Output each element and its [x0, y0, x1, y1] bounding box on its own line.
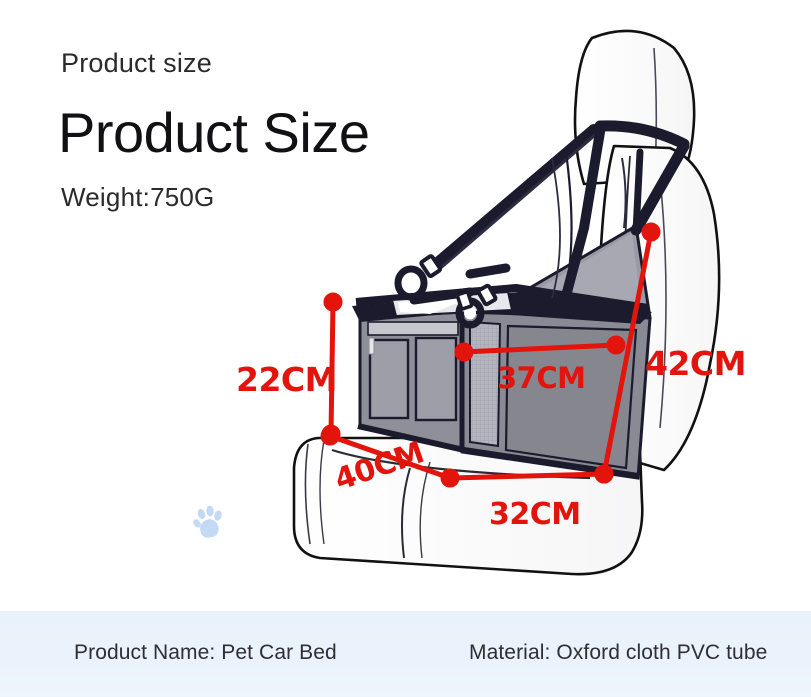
dimension-label-22cm: 22CM: [236, 360, 337, 399]
strap-adjuster-3: [457, 291, 472, 309]
product-info-footer: Product Name: Pet Car Bed Material: Oxfo…: [0, 611, 811, 697]
footer-product-name: Product Name: Pet Car Bed: [74, 641, 337, 665]
bed-mesh-window: [470, 322, 500, 446]
footer-material: Material: Oxford cloth PVC tube: [469, 641, 767, 665]
paw-print-icon: [192, 505, 226, 541]
dimension-label-37cm: 37CM: [497, 361, 586, 395]
dimension-label-32cm: 32CM: [489, 497, 581, 532]
dimension-label-42cm: 42CM: [645, 344, 746, 383]
product-size-infographic: Product size Product Size Weight:750G: [0, 0, 811, 697]
